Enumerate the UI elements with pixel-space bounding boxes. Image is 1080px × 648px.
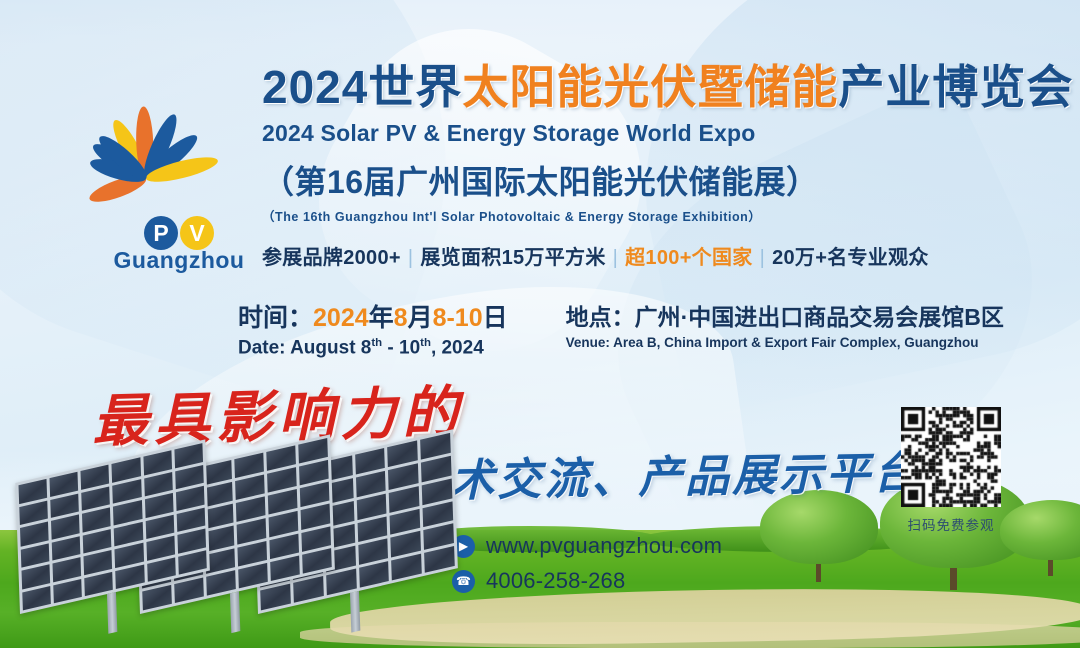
logo-wordmark: P V Guangzhou [84, 216, 274, 274]
solar-cell [266, 445, 296, 471]
date-year-unit: 年 [369, 304, 394, 332]
solar-cell [236, 497, 266, 523]
qr-code[interactable] [901, 407, 1001, 507]
solar-cell [300, 482, 330, 508]
top-gradient-band [0, 0, 1080, 44]
date-label: 时间： [238, 304, 313, 332]
main-title-english: 2024 Solar PV & Energy Storage World Exp… [262, 120, 1062, 147]
solar-cell [52, 536, 81, 561]
solar-cell [267, 467, 297, 493]
solar-cell [20, 521, 49, 546]
expo-promo-banner: P V Guangzhou 2024世界太阳能光伏暨储能产业博览会 2024 S… [0, 0, 1080, 648]
solar-panel-post [107, 592, 117, 634]
solar-cell [235, 475, 265, 501]
solar-cell [424, 546, 455, 573]
solar-cell [175, 464, 204, 489]
solar-cell [53, 557, 82, 582]
date-line-english: Date: August 8th - 10th, 2024 [238, 337, 508, 359]
date-year: 2024 [313, 304, 369, 332]
solar-cell [114, 521, 143, 546]
solar-panel-post [230, 591, 240, 633]
solar-cell [53, 578, 82, 603]
main-title-part3: 产业博览会 [838, 61, 1073, 113]
main-title-part2: 太阳能光伏暨储能 [462, 61, 838, 113]
solar-panel-illustration [0, 458, 460, 648]
venue-column: 地点：广州·中国进出口商品交易会展馆B区 Venue: Area B, Chin… [566, 298, 1004, 359]
venue-line-chinese: 地点：广州·中国进出口商品交易会展馆B区 [566, 298, 1004, 332]
solar-cell [302, 548, 332, 574]
date-month-unit: 月 [408, 304, 433, 332]
solar-cell [113, 479, 142, 504]
solar-cell [113, 500, 142, 525]
logo-city-label: Guangzhou [84, 247, 274, 274]
solar-cell [142, 585, 172, 611]
phone-circle-icon: ☎ [452, 570, 475, 593]
venue-label: 地点： [566, 304, 635, 330]
solar-cell [19, 500, 48, 525]
phone-row[interactable]: ☎ 4006-258-268 [452, 568, 722, 594]
main-title-chinese: 2024世界太阳能光伏暨储能产业博览会 [262, 62, 1062, 114]
solar-cell [145, 493, 174, 518]
solar-cell [21, 564, 50, 589]
stat-separator: | [760, 247, 766, 269]
stats-line: 参展品牌2000+|展览面积15万平方米|超100+个国家|20万+名专业观众 [262, 241, 1062, 270]
solar-cell [269, 511, 299, 537]
solar-cell [144, 472, 173, 497]
date-column: 时间：2024年8月8-10日 Date: August 8th - 10th,… [238, 298, 508, 359]
solar-cell [176, 507, 205, 532]
solar-cell [81, 465, 110, 490]
solar-cell [237, 541, 267, 567]
logo-letter-v: V [180, 216, 214, 250]
solar-cell [83, 529, 112, 554]
date-venue-block: 时间：2024年8月8-10日 Date: August 8th - 10th,… [238, 298, 1038, 359]
solar-cell [237, 519, 267, 545]
date-month: 8 [394, 304, 408, 332]
solar-cell [301, 504, 331, 530]
solar-cell [147, 557, 176, 582]
solar-cell [174, 443, 203, 468]
stat-separator: | [613, 247, 619, 269]
solar-cell [260, 584, 291, 611]
contact-block: ▶ www.pvguangzhou.com ☎ 4006-258-268 [452, 533, 722, 603]
solar-cell [234, 453, 264, 479]
solar-cell [391, 554, 422, 581]
solar-panel-post [350, 591, 360, 633]
headline-block: 2024世界太阳能光伏暨储能产业博览会 2024 Solar PV & Ener… [262, 62, 1062, 270]
solar-cell [146, 536, 175, 561]
solar-cell [51, 514, 80, 539]
solar-cell [112, 457, 141, 482]
stat-item: 参展品牌2000+ [262, 247, 401, 269]
solar-cell [359, 561, 390, 588]
venue-line-english: Venue: Area B, China Import & Export Fai… [566, 335, 1004, 350]
solar-cell [299, 460, 329, 486]
date-line-chinese: 时间：2024年8月8-10日 [238, 298, 508, 334]
solar-cell [21, 543, 50, 568]
solar-cell [238, 563, 268, 589]
solar-cell [178, 550, 207, 575]
subtitle-english: （The 16th Guangzhou Int'l Solar Photovol… [262, 206, 1062, 225]
solar-cell [145, 514, 174, 539]
subtitle-chinese: （第16届广州国际太阳能光伏储能展） [262, 157, 1062, 203]
solar-cell [270, 555, 300, 581]
logo-letter-p: P [144, 216, 178, 250]
venue-value: 广州·中国进出口商品交易会展馆B区 [635, 304, 1004, 330]
solar-cell [206, 570, 236, 596]
date-days: 8-10 [433, 304, 483, 332]
solar-cell [84, 550, 113, 575]
solar-cell [82, 507, 111, 532]
website-row[interactable]: ▶ www.pvguangzhou.com [452, 533, 722, 559]
main-title-part1: 2024世界 [262, 61, 462, 113]
solar-cell [298, 438, 328, 464]
solar-cell [177, 528, 206, 553]
solar-cell [115, 543, 144, 568]
website-url[interactable]: www.pvguangzhou.com [486, 533, 722, 559]
stat-separator: | [408, 247, 414, 269]
solar-cell [82, 486, 111, 511]
qr-caption: 扫码免费参观 [897, 514, 1005, 534]
pv-guangzhou-logo: P V Guangzhou [62, 108, 277, 298]
solar-cell [174, 577, 204, 603]
stat-item: 展览面积15万平方米 [420, 247, 605, 269]
solar-cell [269, 533, 299, 559]
solar-cell [18, 479, 47, 504]
solar-cell [50, 472, 79, 497]
phone-number[interactable]: 4006-258-268 [486, 568, 625, 594]
solar-cell [116, 564, 145, 589]
solar-cell [85, 571, 114, 596]
stat-item: 超100+个国家 [625, 247, 752, 269]
date-day-unit: 日 [483, 304, 508, 332]
solar-cell [50, 493, 79, 518]
solar-cell [268, 489, 298, 515]
solar-cell [293, 576, 324, 603]
solar-cell [143, 450, 172, 475]
stat-item: 20万+名专业观众 [772, 247, 929, 269]
solar-cell [301, 526, 331, 552]
qr-block: 扫码免费参观 [897, 407, 1005, 534]
solar-cell [22, 586, 51, 611]
solar-cell [176, 486, 205, 511]
